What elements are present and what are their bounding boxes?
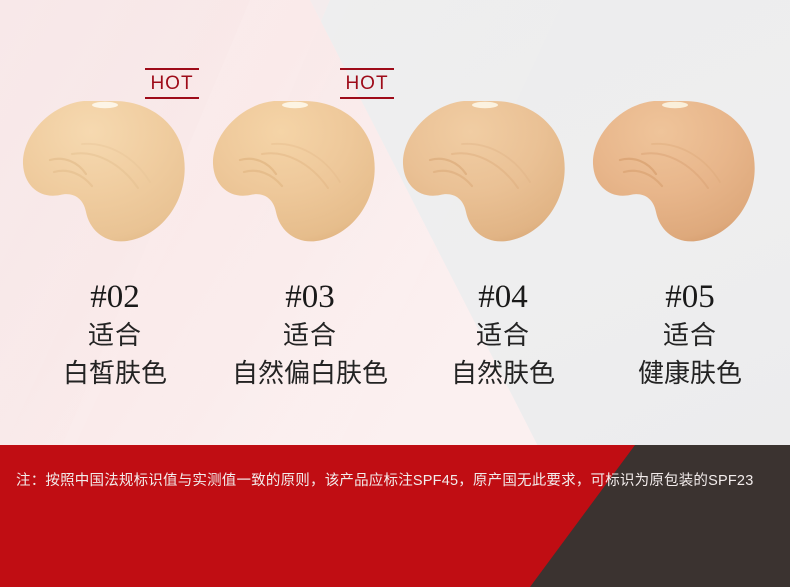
shade-suit-label: 适合 xyxy=(10,316,220,354)
shade-skin-tone: 自然偏白肤色 xyxy=(205,354,415,392)
shade-suit-label: 适合 xyxy=(205,316,415,354)
foundation-swatch-05[interactable] xyxy=(590,96,780,246)
shade-number: #03 xyxy=(205,278,415,316)
shade-number: #05 xyxy=(585,278,790,316)
shade-label-02: #02 适合 白皙肤色 xyxy=(10,278,220,392)
foundation-swatch-04[interactable] xyxy=(400,96,590,246)
hot-badge-shade-03: HOT xyxy=(340,68,394,99)
shade-skin-tone: 自然肤色 xyxy=(398,354,608,392)
shade-number: #04 xyxy=(398,278,608,316)
product-shade-chart: HOT HOT xyxy=(0,0,790,587)
shade-label-05: #05 适合 健康肤色 xyxy=(585,278,790,392)
shade-number: #02 xyxy=(10,278,220,316)
swatch-row xyxy=(0,96,790,246)
shade-suit-label: 适合 xyxy=(585,316,790,354)
disclaimer-banner: 注：按照中国法规标识值与实测值一致的原则，该产品应标注SPF45，原产国无此要求… xyxy=(0,445,790,587)
foundation-swatch-03[interactable] xyxy=(210,96,400,246)
hot-badge-shade-02: HOT xyxy=(145,68,199,99)
shade-label-03: #03 适合 自然偏白肤色 xyxy=(205,278,415,392)
shade-skin-tone: 白皙肤色 xyxy=(10,354,220,392)
shade-suit-label: 适合 xyxy=(398,316,608,354)
shade-label-04: #04 适合 自然肤色 xyxy=(398,278,608,392)
disclaimer-note: 注：按照中国法规标识值与实测值一致的原则，该产品应标注SPF45，原产国无此要求… xyxy=(0,445,790,490)
shade-skin-tone: 健康肤色 xyxy=(585,354,790,392)
foundation-swatch-02[interactable] xyxy=(20,96,210,246)
